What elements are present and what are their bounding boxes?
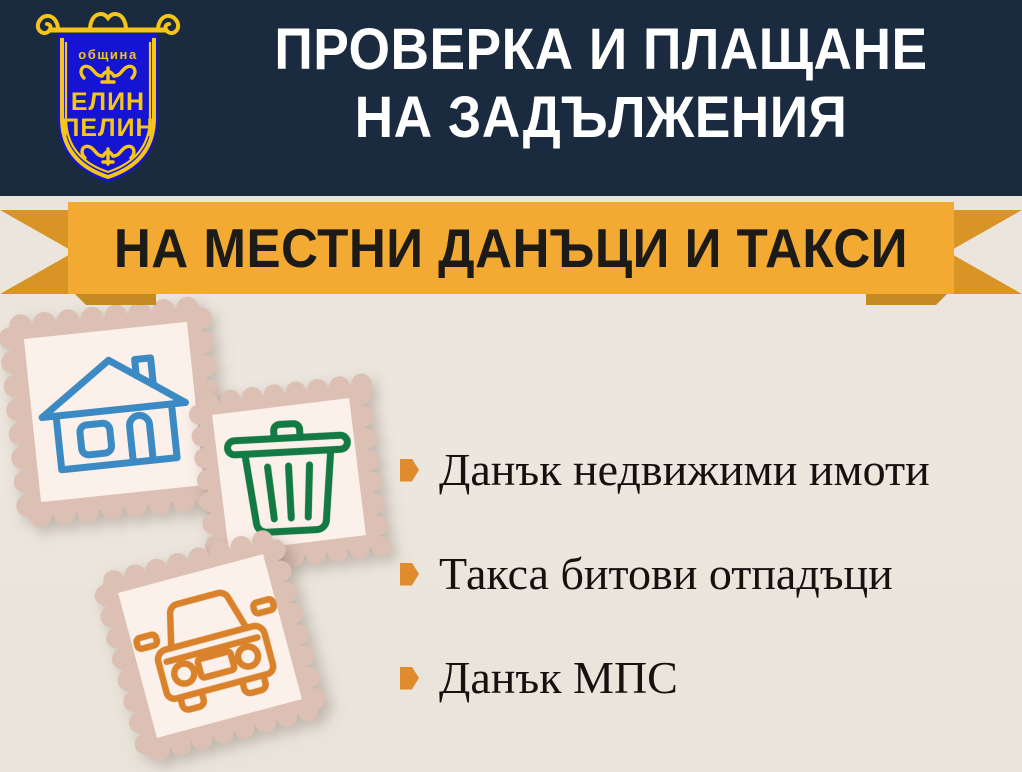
list-item-label: Данък МПС <box>439 652 678 704</box>
poster-title: ПРОВЕРКА И ПЛАЩАНЕ НА ЗАДЪЛЖЕНИЯ <box>196 16 1006 152</box>
municipality-logo: община ЕЛИН ПЕЛИН <box>28 6 188 190</box>
ribbon-text: НА МЕСТНИ ДАНЪЦИ И ТАКСИ <box>114 219 908 277</box>
title-line-1: ПРОВЕРКА И ПЛАЩАНЕ <box>228 16 973 84</box>
subtitle-ribbon: НА МЕСТНИ ДАНЪЦИ И ТАКСИ <box>0 196 1022 308</box>
list-item[interactable]: Данък МПС <box>400 626 1010 730</box>
ribbon-band: НА МЕСТНИ ДАНЪЦИ И ТАКСИ <box>68 202 954 294</box>
poster-canvas: община ЕЛИН ПЕЛИН <box>0 0 1022 772</box>
list-item[interactable]: Такса битови отпадъци <box>400 522 1010 626</box>
arrow-bullet-icon <box>400 459 419 482</box>
tax-type-list: Данък недвижими имоти Такса битови отпад… <box>400 418 1010 730</box>
list-item[interactable]: Данък недвижими имоти <box>400 418 1010 522</box>
header-banner: община ЕЛИН ПЕЛИН <box>0 0 1022 196</box>
list-item-label: Такса битови отпадъци <box>439 548 893 600</box>
list-item-label: Данък недвижими имоти <box>439 444 930 496</box>
title-line-2: НА ЗАДЪЛЖЕНИЯ <box>228 84 973 152</box>
logo-line-bottom: ПЕЛИН <box>61 114 154 142</box>
stamp-cluster <box>0 300 430 770</box>
logo-line-middle: ЕЛИН <box>71 88 145 116</box>
arrow-bullet-icon <box>400 667 419 690</box>
arrow-bullet-icon <box>400 563 419 586</box>
logo-line-top: община <box>78 47 138 62</box>
